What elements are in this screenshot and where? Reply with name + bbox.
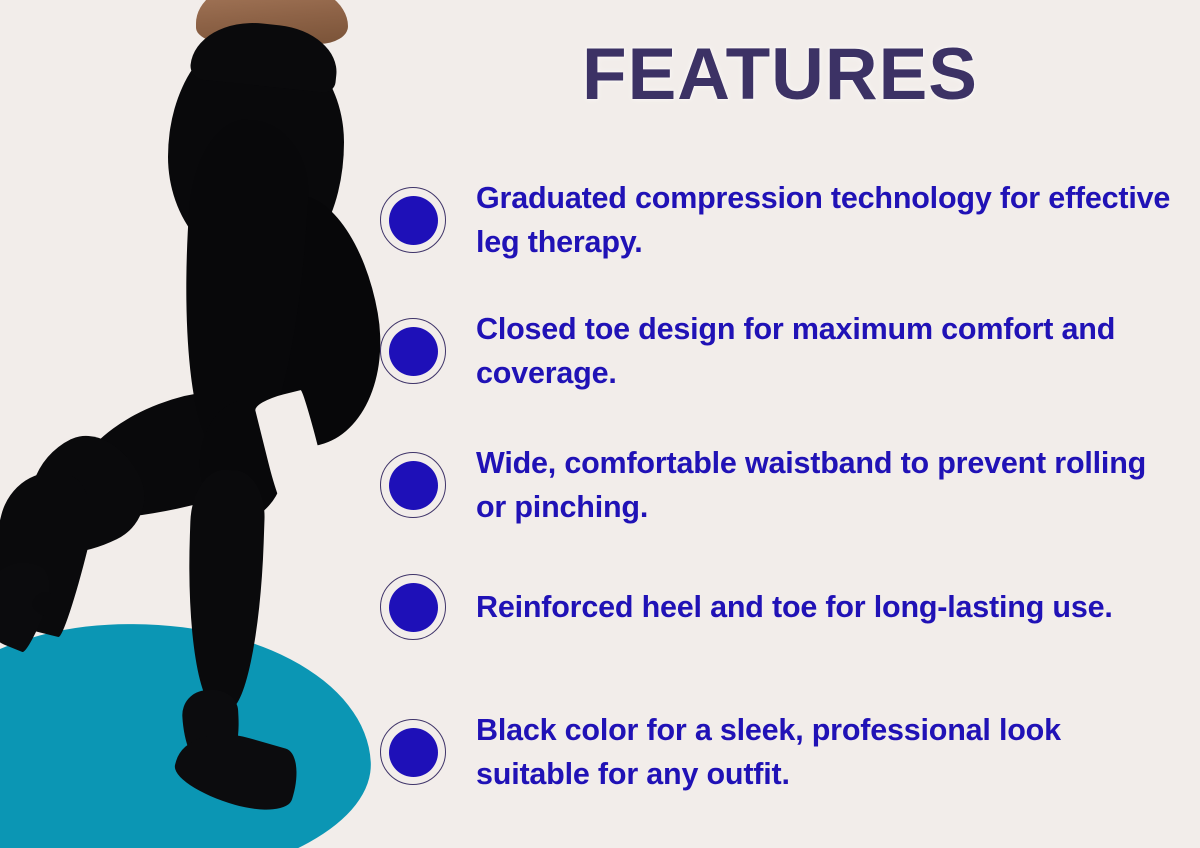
filled-circle-ring-icon <box>380 318 446 384</box>
feature-list-item-2: Closed toe design for maximum comfort an… <box>380 307 1200 395</box>
feature-list-item-5: Black color for a sleek, professional lo… <box>380 708 1200 796</box>
feature-graphic-canvas: FEATURES Graduated compression technolog… <box>0 0 1200 848</box>
page-title: FEATURES <box>380 37 1180 114</box>
feature-list-item-3: Wide, comfortable waistband to prevent r… <box>380 441 1200 529</box>
feature-list-item-1: Graduated compression technology for eff… <box>380 176 1200 264</box>
feature-item-text: Black color for a sleek, professional lo… <box>476 708 1176 796</box>
filled-circle-ring-icon <box>380 187 446 253</box>
filled-circle-ring-icon <box>380 719 446 785</box>
feature-item-text: Reinforced heel and toe for long-lasting… <box>476 585 1196 629</box>
feature-list-item-4: Reinforced heel and toe for long-lasting… <box>380 574 1200 640</box>
feature-item-text: Closed toe design for maximum comfort an… <box>476 307 1176 395</box>
front-leg-shin-shape <box>184 469 266 711</box>
features-content-column: FEATURES Graduated compression technolog… <box>380 0 1200 848</box>
feature-item-text: Graduated compression technology for eff… <box>476 176 1176 264</box>
filled-circle-ring-icon <box>380 452 446 518</box>
feature-item-text: Wide, comfortable waistband to prevent r… <box>476 441 1176 529</box>
product-photo-legs-compression-tights <box>0 0 380 848</box>
filled-circle-ring-icon <box>380 574 446 640</box>
